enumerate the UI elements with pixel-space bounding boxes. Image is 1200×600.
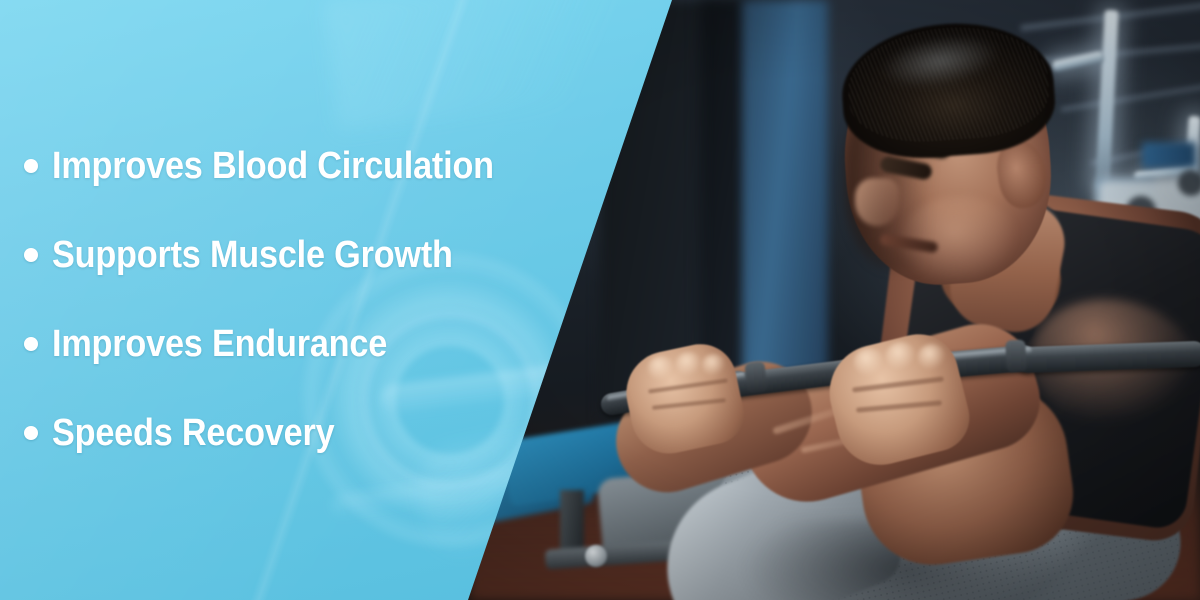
knuckle xyxy=(676,352,702,376)
machine-blue-part xyxy=(1142,142,1196,168)
machine-hole xyxy=(1178,170,1200,196)
list-item: Supports Muscle Growth xyxy=(24,230,497,280)
knuckle xyxy=(918,344,946,370)
benefit-label: Speeds Recovery xyxy=(52,414,334,452)
list-item: Improves Blood Circulation xyxy=(24,141,543,191)
benefit-label: Supports Muscle Growth xyxy=(52,236,453,274)
knuckle xyxy=(702,354,726,376)
benefits-list: Improves Blood Circulation Supports Musc… xyxy=(0,0,620,600)
fitness-benefits-banner: Improves Blood Circulation Supports Musc… xyxy=(0,0,1200,600)
knuckle xyxy=(648,356,674,380)
dot-bullet-icon xyxy=(24,426,38,440)
dot-bullet-icon xyxy=(24,337,38,351)
knuckle xyxy=(854,348,884,376)
barbell-collar xyxy=(1005,339,1027,372)
list-item: Improves Endurance xyxy=(24,319,424,369)
dot-bullet-icon xyxy=(24,159,38,173)
athlete-nose xyxy=(855,178,899,226)
list-item: Speeds Recovery xyxy=(24,408,366,458)
knuckle xyxy=(886,342,916,370)
barbell-collar xyxy=(744,361,768,393)
dot-bullet-icon xyxy=(24,248,38,262)
benefit-label: Improves Endurance xyxy=(52,325,387,363)
blue-pillar xyxy=(742,0,828,380)
benefit-label: Improves Blood Circulation xyxy=(52,147,494,185)
